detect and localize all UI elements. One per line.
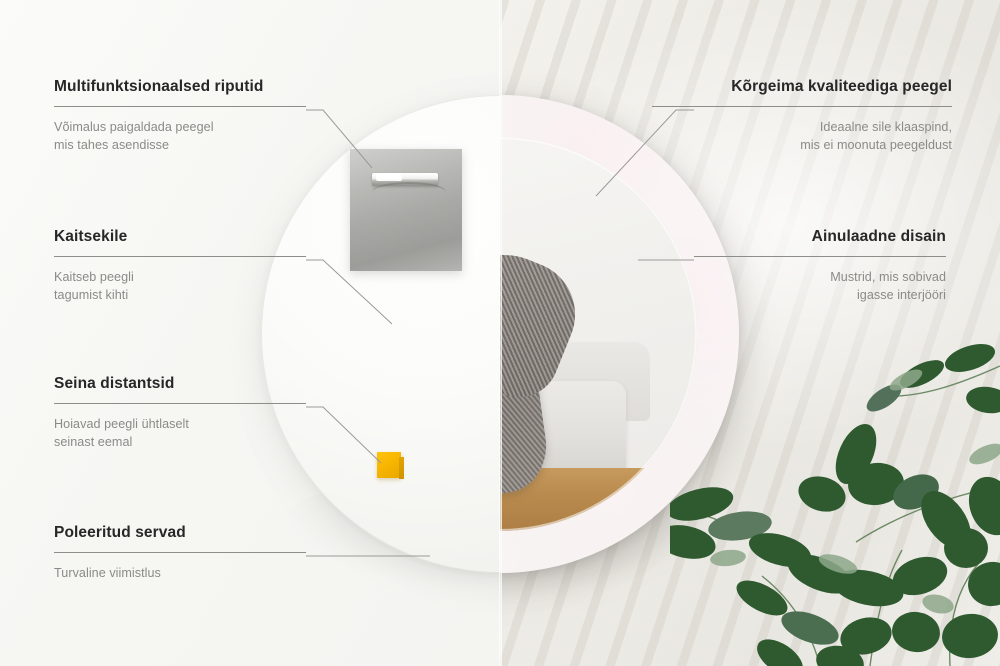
callout-title: Kõrgeima kvaliteediga peegel — [652, 78, 952, 97]
callout-title: Kaitsekile — [54, 228, 306, 247]
callout-title: Seina distantsid — [54, 375, 306, 394]
leaf-icon — [670, 336, 1000, 666]
callout-body: Turvaline viimistlus — [54, 564, 306, 582]
yellow-spacer-side-icon — [399, 457, 404, 479]
callout-unique-design: Ainulaadne disain Mustrid, mis sobivadig… — [694, 228, 946, 304]
callout-protective-film: Kaitsekile Kaitseb peeglitagumist kihti — [54, 228, 306, 304]
hanger-plate-icon — [350, 149, 462, 271]
callout-rule — [54, 256, 306, 257]
callout-rule — [54, 403, 306, 404]
callout-rule — [54, 552, 306, 553]
yellow-spacer-icon — [377, 452, 401, 478]
callout-title: Multifunktsionaalsed riputid — [54, 78, 306, 97]
mirror-glass-surface — [500, 137, 697, 531]
callout-rule — [694, 256, 946, 257]
callout-body: Kaitseb peeglitagumist kihti — [54, 268, 306, 305]
callout-body: Hoiavad peegli ühtlaseltseinast eemal — [54, 415, 306, 452]
callout-body: Võimalus paigaldada peegelmis tahes asen… — [54, 118, 306, 155]
infographic-canvas: Multifunktsionaalsed riputid Võimalus pa… — [0, 0, 1000, 666]
callout-title: Poleeritud servad — [54, 524, 306, 543]
callout-rule — [54, 106, 306, 107]
callout-highest-quality-mirror: Kõrgeima kvaliteediga peegel Ideaalne si… — [652, 78, 952, 154]
callout-polished-edges: Poleeritud servad Turvaline viimistlus — [54, 524, 306, 582]
callout-rule — [652, 106, 952, 107]
callout-body: Mustrid, mis sobivadigasse interjööri — [694, 268, 946, 305]
callout-wall-spacers: Seina distantsid Hoiavad peegli ühtlasel… — [54, 375, 306, 451]
callout-title: Ainulaadne disain — [694, 228, 946, 247]
panel-divider — [499, 0, 502, 666]
callout-multifunctional-hangers: Multifunktsionaalsed riputid Võimalus pa… — [54, 78, 306, 154]
callout-body: Ideaalne sile klaaspind,mis ei moonuta p… — [652, 118, 952, 155]
